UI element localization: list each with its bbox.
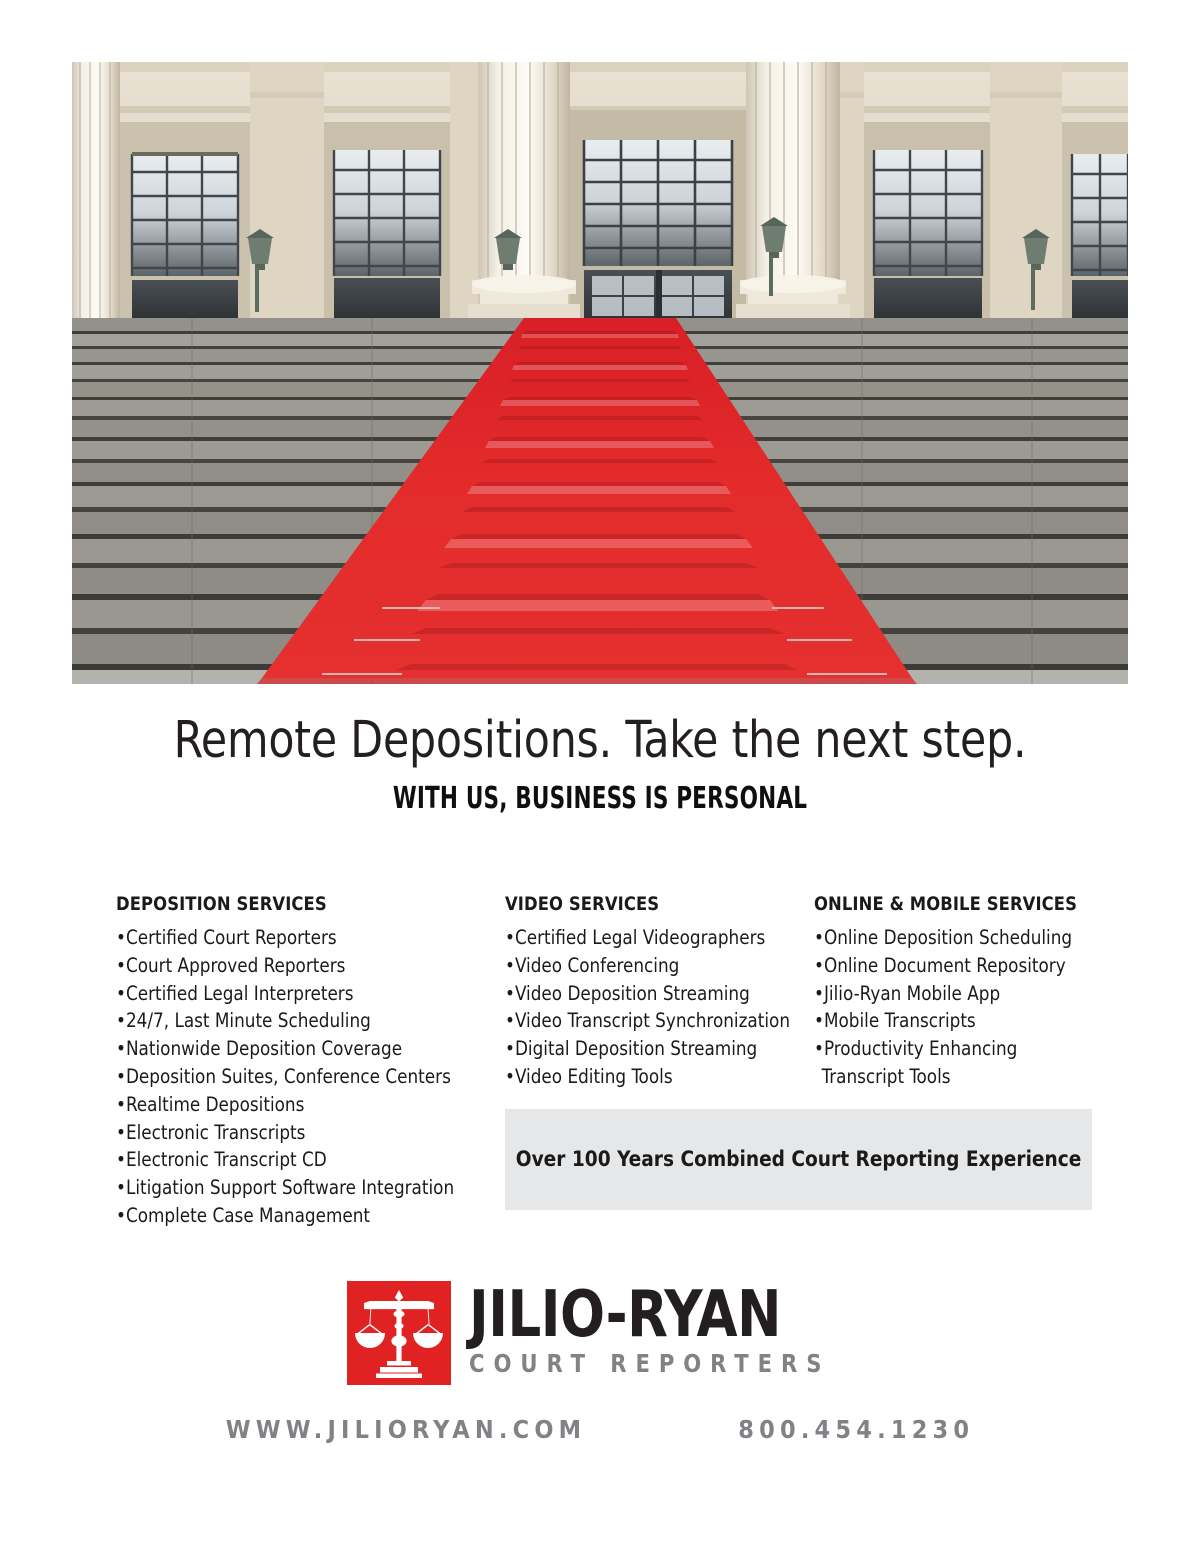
list-item: •Mobile Transcripts — [814, 1007, 1085, 1035]
list-item-label: Electronic Transcripts — [126, 1121, 305, 1144]
bullet-icon: • — [116, 1148, 126, 1171]
deposition-services-list: •Certified Court Reporters •Court Approv… — [116, 924, 496, 1230]
list-item: •Certified Legal Videographers — [505, 924, 793, 952]
list-item-label: Digital Deposition Streaming — [515, 1037, 757, 1060]
list-item: •Court Approved Reporters — [116, 952, 481, 980]
list-item: •Certified Court Reporters — [116, 924, 481, 952]
bullet-icon: • — [814, 982, 824, 1005]
bullet-icon: • — [116, 926, 126, 949]
list-item: •Video Transcript Synchronization — [505, 1007, 793, 1035]
bullet-icon: • — [505, 1037, 515, 1060]
list-item: •Nationwide Deposition Coverage — [116, 1035, 481, 1063]
list-item: •Jilio-Ryan Mobile App — [814, 980, 1085, 1008]
list-item-label: Video Deposition Streaming — [515, 982, 750, 1005]
list-item: •Video Deposition Streaming — [505, 980, 793, 1008]
list-item-label: Certified Legal Videographers — [515, 926, 765, 949]
logo-tagline: COURT REPORTERS — [469, 1349, 830, 1378]
list-item: •Realtime Depositions — [116, 1091, 481, 1119]
list-item: •Digital Deposition Streaming — [505, 1035, 793, 1063]
list-item-label: Litigation Support Software Integration — [126, 1176, 454, 1199]
list-item: •Electronic Transcript CD — [116, 1146, 481, 1174]
list-item-label: Realtime Depositions — [126, 1093, 304, 1116]
list-item-label: Nationwide Deposition Coverage — [126, 1037, 402, 1060]
experience-banner-text: Over 100 Years Combined Court Reporting … — [516, 1147, 1082, 1172]
bullet-icon: • — [814, 954, 824, 977]
list-item-label: Electronic Transcript CD — [126, 1148, 327, 1171]
video-services-list: •Certified Legal Videographers •Video Co… — [505, 924, 805, 1091]
headline-block: Remote Depositions. Take the next step. … — [0, 712, 1200, 816]
list-item-label: Video Editing Tools — [515, 1065, 673, 1088]
list-item-label: Video Conferencing — [515, 954, 679, 977]
bullet-icon: • — [116, 1093, 126, 1116]
bullet-icon: • — [116, 1176, 126, 1199]
online-mobile-services-list: •Online Deposition Scheduling •Online Do… — [814, 924, 1096, 1091]
column-heading-online-mobile: ONLINE & MOBILE SERVICES — [814, 893, 1085, 915]
list-item: •Certified Legal Interpreters — [116, 980, 481, 1008]
column-heading-video: VIDEO SERVICES — [505, 893, 793, 915]
list-item-label: Court Approved Reporters — [126, 954, 345, 977]
list-item: •Video Conferencing — [505, 952, 793, 980]
bullet-icon: • — [814, 1037, 824, 1060]
bullet-icon: • — [116, 1065, 126, 1088]
column-heading-deposition: DEPOSITION SERVICES — [116, 893, 481, 915]
list-item-label: Online Deposition Scheduling — [824, 926, 1072, 949]
experience-banner: Over 100 Years Combined Court Reporting … — [505, 1109, 1092, 1210]
logo-wordmark: JILIO-RYAN COURT REPORTERS — [469, 1281, 853, 1378]
courthouse-red-carpet-stairs-photo — [72, 62, 1128, 684]
list-item-label: Video Transcript Synchronization — [515, 1009, 790, 1032]
logo-mark — [347, 1281, 451, 1385]
bullet-icon: • — [116, 1204, 126, 1227]
hero-photo — [72, 62, 1128, 684]
list-item-label: Deposition Suites, Conference Centers — [126, 1065, 451, 1088]
bullet-icon: • — [116, 954, 126, 977]
services-column-deposition: DEPOSITION SERVICES •Certified Court Rep… — [116, 893, 496, 1230]
scales-of-justice-icon — [347, 1281, 451, 1385]
list-item: •24/7, Last Minute Scheduling — [116, 1007, 481, 1035]
footer-contact: WWW.JILIORYAN.COM 800.454.1230 — [0, 1415, 1200, 1444]
list-item: •Litigation Support Software Integration — [116, 1174, 481, 1202]
bullet-icon: • — [505, 954, 515, 977]
list-item-label: Jilio-Ryan Mobile App — [824, 982, 1000, 1005]
services-column-online-mobile: ONLINE & MOBILE SERVICES •Online Deposit… — [814, 893, 1096, 1091]
bullet-icon: • — [505, 926, 515, 949]
bullet-icon: • — [505, 1009, 515, 1032]
bullet-icon: • — [116, 982, 126, 1005]
list-item-label: Mobile Transcripts — [824, 1009, 976, 1032]
bullet-icon: • — [116, 1037, 126, 1060]
list-item-label: Online Document Repository — [824, 954, 1066, 977]
list-item: •Video Editing Tools — [505, 1063, 793, 1091]
list-item-label: Certified Court Reporters — [126, 926, 337, 949]
bullet-icon: • — [814, 926, 824, 949]
list-item: •Complete Case Management — [116, 1202, 481, 1230]
bullet-icon: • — [505, 1065, 515, 1088]
brand-logo: JILIO-RYAN COURT REPORTERS — [0, 1281, 1200, 1385]
list-item: •Online Deposition Scheduling — [814, 924, 1085, 952]
page-subtitle: WITH US, BUSINESS IS PERSONAL — [120, 781, 1080, 816]
phone-number[interactable]: 800.454.1230 — [738, 1415, 974, 1444]
bullet-icon: • — [116, 1009, 126, 1032]
page-title: Remote Depositions. Take the next step. — [42, 712, 1158, 769]
list-item: •Productivity Enhancing — [814, 1035, 1085, 1063]
website-link[interactable]: WWW.JILIORYAN.COM — [226, 1415, 587, 1444]
list-item-continuation: Transcript Tools — [814, 1063, 1085, 1091]
list-item: •Electronic Transcripts — [116, 1119, 481, 1147]
list-item-label: Certified Legal Interpreters — [126, 982, 354, 1005]
logo-company-name: JILIO-RYAN — [469, 1285, 823, 1346]
services-column-video: VIDEO SERVICES •Certified Legal Videogra… — [505, 893, 805, 1091]
list-item: •Deposition Suites, Conference Centers — [116, 1063, 481, 1091]
list-item-label: Complete Case Management — [126, 1204, 370, 1227]
list-item: •Online Document Repository — [814, 952, 1085, 980]
list-item-label: 24/7, Last Minute Scheduling — [126, 1009, 371, 1032]
bullet-icon: • — [505, 982, 515, 1005]
list-item-label: Productivity Enhancing — [824, 1037, 1017, 1060]
bullet-icon: • — [814, 1009, 824, 1032]
bullet-icon: • — [116, 1121, 126, 1144]
